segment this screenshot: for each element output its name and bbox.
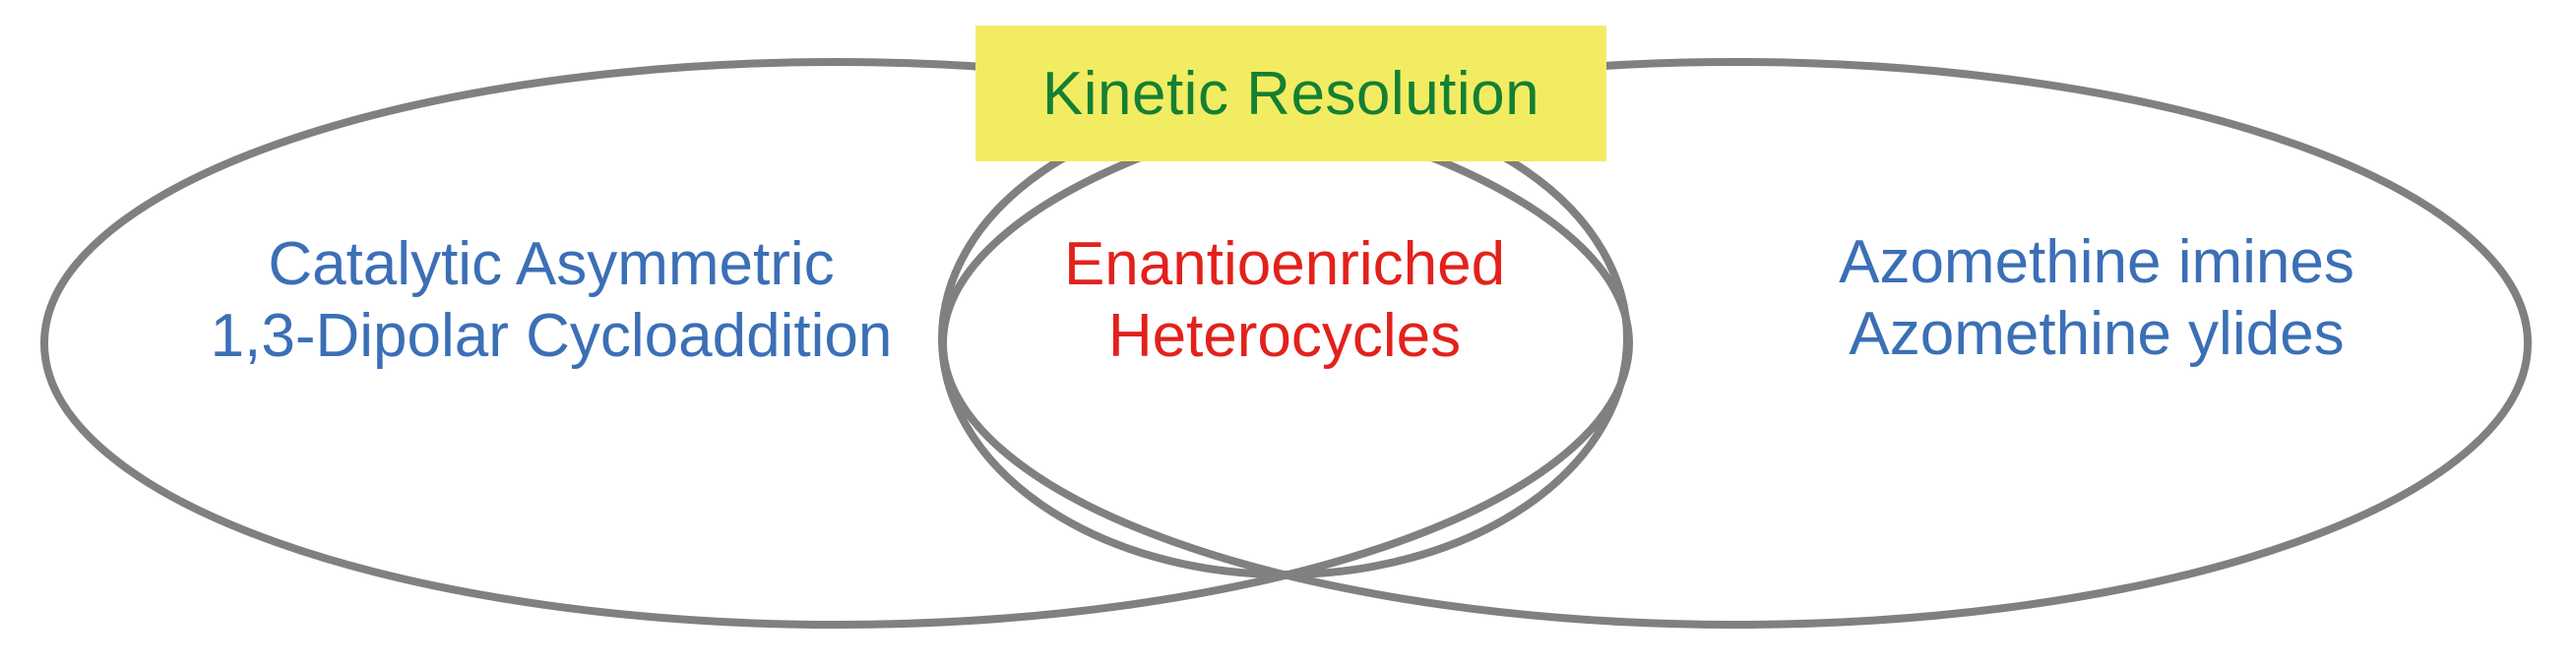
venn-label-right: Azomethine imines Azomethine ylides — [1693, 226, 2500, 370]
kinetic-resolution-banner: Kinetic Resolution — [975, 26, 1606, 161]
venn-label-left: Catalytic Asymmetric 1,3-Dipolar Cycload… — [59, 228, 1043, 372]
venn-label-center: Enantioenriched Heterocycles — [1014, 228, 1555, 372]
kinetic-resolution-label: Kinetic Resolution — [1042, 59, 1539, 129]
venn-diagram-canvas: Kinetic Resolution Catalytic Asymmetric … — [0, 0, 2576, 666]
